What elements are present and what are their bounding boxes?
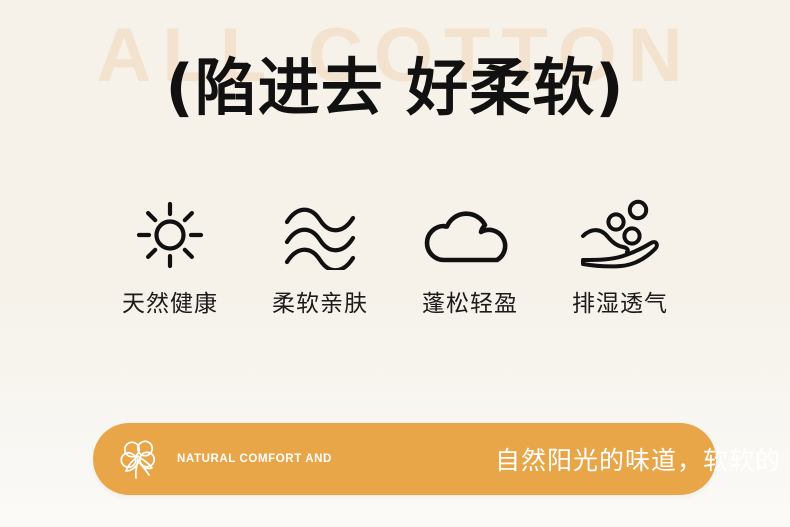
feature-label: 天然健康 [122, 284, 218, 318]
feature-label: 排湿透气 [572, 284, 668, 318]
feature-item-moisture-wicking: 排湿透气 [545, 192, 695, 318]
cloud-icon [422, 192, 518, 278]
hand-with-bubbles-icon [577, 192, 663, 278]
sun-icon [134, 192, 206, 278]
bottom-banner: NATURAL COMFORT AND 自然阳光的味道，软软的 [93, 423, 716, 495]
feature-label: 蓬松轻盈 [422, 284, 518, 318]
cotton-flower-icon [115, 435, 163, 483]
feature-item-fluffy-light: 蓬松轻盈 [395, 192, 545, 318]
banner-left-group: NATURAL COMFORT AND [93, 435, 332, 483]
feature-item-natural-health: 天然健康 [95, 192, 245, 318]
waves-icon [281, 192, 359, 278]
promo-page: ALL COTTON (陷进去 好柔软) 天然健康 [0, 0, 790, 527]
banner-english-text: NATURAL COMFORT AND [177, 453, 332, 465]
feature-item-soft-skin-friendly: 柔软亲肤 [245, 192, 395, 318]
banner-chinese-text: 自然阳光的味道，软软的 [495, 441, 781, 477]
page-title: (陷进去 好柔软) [0, 52, 790, 123]
feature-label: 柔软亲肤 [272, 284, 368, 318]
feature-list: 天然健康 柔软亲肤 蓬松轻盈 [95, 192, 695, 318]
